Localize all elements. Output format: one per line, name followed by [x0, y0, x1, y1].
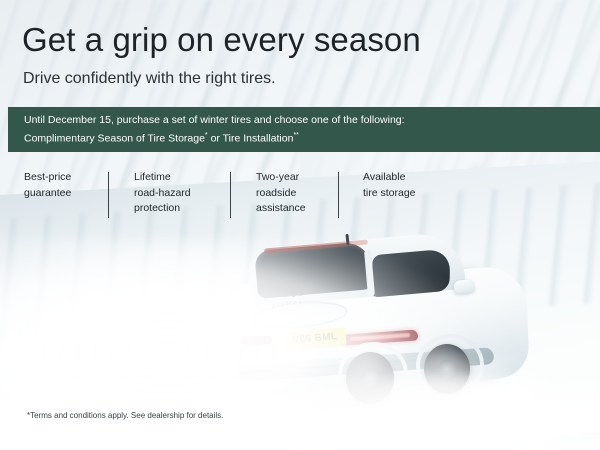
benefit-divider: [108, 172, 109, 218]
disclaimer-text: *Terms and conditions apply. See dealers…: [27, 411, 223, 420]
offer-line-2: Complimentary Season of Tire Storage* or…: [8, 128, 600, 147]
benefit-line: roadside: [256, 186, 306, 202]
benefit-line: Two-year: [256, 170, 306, 186]
subheadline: Drive confidently with the right tires.: [23, 70, 276, 88]
benefit-line: Best-price: [24, 170, 71, 186]
benefit-item-roadside: Two-year roadside assistance: [256, 170, 306, 217]
benefit-item-road-hazard: Lifetime road-hazard protection: [134, 170, 191, 217]
offer-middle-text: or Tire Installation: [208, 132, 294, 144]
offer-storage-text: Complimentary Season of Tire Storage: [24, 132, 205, 144]
benefit-line: tire storage: [363, 186, 416, 202]
benefit-item-tire-storage: Available tire storage: [363, 170, 416, 201]
benefit-line: Available: [363, 170, 416, 186]
offer-line-1: Until December 15, purchase a set of win…: [8, 113, 600, 128]
offer-banner: Until December 15, purchase a set of win…: [8, 107, 600, 152]
winter-tire-promo-ad: BENTLEY V66 BML Get a grip on ever: [0, 0, 600, 450]
benefit-line: assistance: [256, 201, 306, 217]
benefit-item-best-price: Best-price guarantee: [24, 170, 71, 201]
benefit-divider: [230, 172, 231, 218]
benefit-divider: [338, 172, 339, 218]
page-title: Get a grip on every season: [22, 21, 421, 59]
benefit-line: guarantee: [24, 186, 71, 202]
benefit-line: protection: [134, 201, 191, 217]
benefit-line: road-hazard: [134, 186, 191, 202]
benefit-line: Lifetime: [134, 170, 191, 186]
benefits-row: Best-price guarantee Lifetime road-hazar…: [0, 170, 600, 222]
offer-footnote-marker-2: **: [293, 132, 298, 139]
snow-driving-scene: BENTLEY V66 BML: [0, 0, 600, 450]
